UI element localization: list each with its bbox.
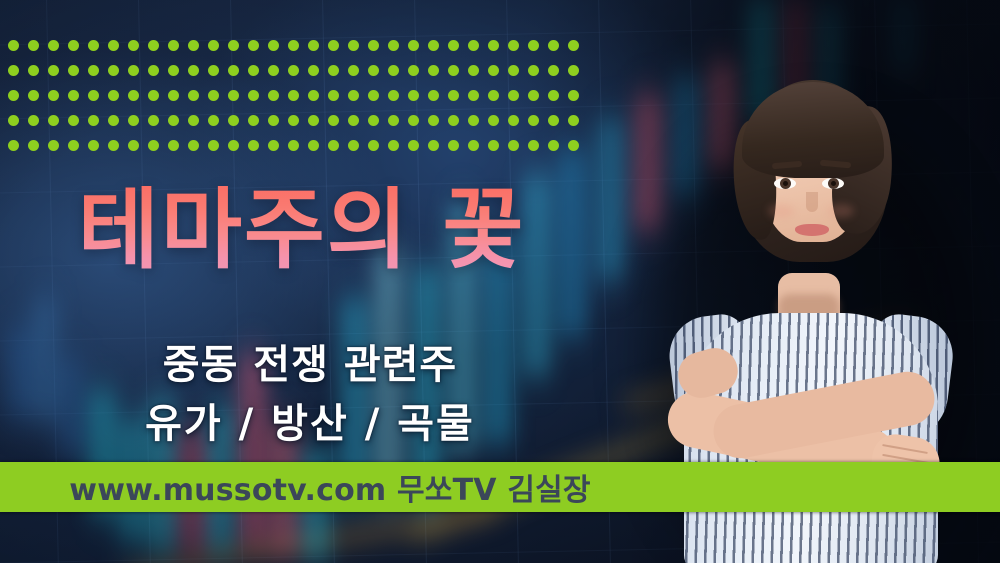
page-title: 테마주의 꽃 bbox=[78, 186, 618, 274]
lips bbox=[795, 224, 829, 236]
pupil-left bbox=[783, 181, 788, 186]
cheek-right bbox=[828, 204, 854, 218]
pupil-right bbox=[831, 181, 836, 186]
thumbnail-canvas: 테마주의 꽃 중동 전쟁 관련주 유가 / 방산 / 곡물 www.mussot… bbox=[0, 0, 1000, 563]
channel-banner-text: www.mussotv.com 무쏘TV 김실장 bbox=[0, 462, 660, 512]
nose bbox=[806, 192, 818, 212]
subtitle-line-1: 중동 전쟁 관련주 bbox=[0, 332, 620, 390]
subtitle-line-2: 유가 / 방산 / 곡물 bbox=[0, 391, 620, 449]
cheek-left bbox=[768, 204, 794, 218]
hair-front bbox=[742, 82, 884, 178]
